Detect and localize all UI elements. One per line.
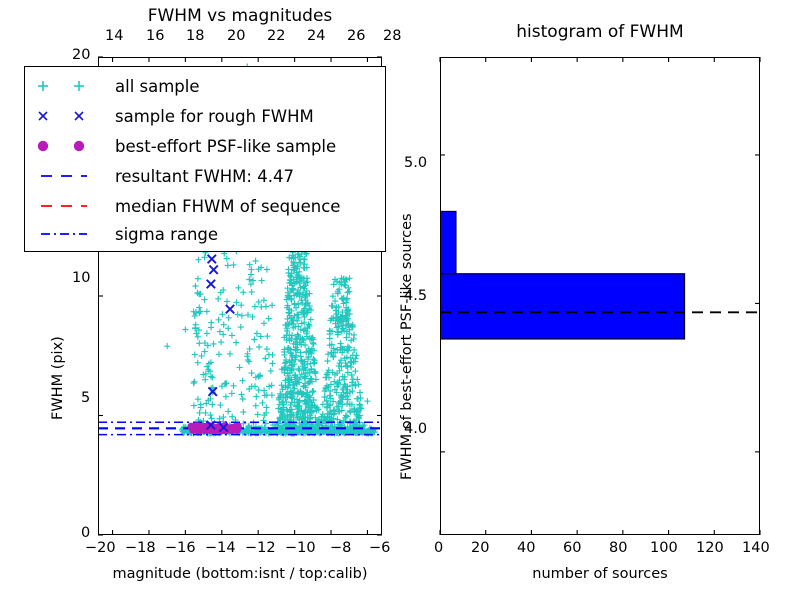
cross-icon	[31, 103, 109, 129]
right-panel-title: histogram of FWHM	[440, 22, 760, 42]
left-xbot-tick-7: −6	[369, 540, 390, 556]
legend-label-all-sample: all sample	[115, 77, 200, 96]
left-xaxis-label: magnitude (bottom:isnt / top:calib)	[98, 566, 382, 582]
left-xbot-tick-5: −10	[285, 540, 316, 556]
legend-entry-psf-sample: best-effort PSF-like sample	[31, 131, 336, 161]
dot-icon	[31, 133, 109, 159]
legend-label-median: median FHWM of sequence	[115, 197, 340, 216]
left-xtop-tick-5: 24	[307, 28, 325, 44]
left-xtop-tick-3: 20	[227, 28, 245, 44]
legend-box: all sample sample for rough FWHM best-ef…	[24, 66, 386, 252]
left-xbot-tick-3: −14	[205, 540, 236, 556]
legend-label-rough-sample: sample for rough FWHM	[115, 107, 314, 126]
legend-entry-sigma: sigma range	[31, 219, 218, 249]
right-xtick-80: 80	[609, 540, 627, 556]
dashed-line-icon-red	[31, 193, 109, 219]
legend-entry-all-sample: all sample	[31, 71, 200, 101]
legend-label-resultant: resultant FWHM: 4.47	[115, 167, 294, 186]
dashed-line-icon-blue	[31, 163, 109, 189]
legend-entry-median: median FHWM of sequence	[31, 191, 340, 221]
left-xtop-tick-4: 22	[267, 28, 285, 44]
left-xtop-tick-2: 18	[186, 28, 204, 44]
legend-label-psf-sample: best-effort PSF-like sample	[115, 137, 336, 156]
left-xtop-tick-7: 28	[383, 28, 401, 44]
right-xtick-100: 100	[650, 540, 678, 556]
right-xtick-0: 0	[434, 540, 443, 556]
left-ytick-10: 10	[72, 270, 90, 286]
right-xtick-60: 60	[563, 540, 581, 556]
right-xtick-140: 140	[742, 540, 770, 556]
left-ytick-0: 0	[81, 525, 90, 541]
left-xtop-tick-0: 14	[105, 28, 123, 44]
dashdot-line-icon	[31, 221, 109, 247]
left-xtop-tick-1: 16	[146, 28, 164, 44]
legend-entry-rough-sample: sample for rough FWHM	[31, 101, 314, 131]
left-ytick-20: 20	[72, 47, 90, 63]
right-xtick-40: 40	[517, 540, 535, 556]
left-xbot-tick-2: −16	[165, 540, 196, 556]
figure-canvas: FWHM vs magnitudes 14 16 18 20 22 24 26 …	[0, 0, 800, 600]
left-xbot-tick-4: −12	[245, 540, 276, 556]
legend-entry-resultant: resultant FWHM: 4.47	[31, 161, 294, 191]
left-ytick-5: 5	[81, 390, 90, 406]
right-xtick-20: 20	[471, 540, 489, 556]
left-panel-title: FWHM vs magnitudes	[98, 6, 382, 26]
right-xaxis-label: number of sources	[440, 566, 760, 582]
right-plot-area	[440, 57, 760, 535]
left-xbot-tick-6: −8	[330, 540, 351, 556]
right-yaxis-label: FWHM of best-effort PSF-like sources	[399, 213, 415, 480]
plus-icon	[31, 73, 109, 99]
right-ytick-5.0: 5.0	[404, 155, 427, 171]
right-xtick-120: 120	[696, 540, 724, 556]
left-yaxis-label: FWHM (pix)	[50, 336, 66, 420]
left-xbot-tick-0: −20	[85, 540, 116, 556]
legend-label-sigma: sigma range	[115, 225, 218, 244]
left-xbot-tick-1: −18	[125, 540, 156, 556]
left-xtop-tick-6: 26	[347, 28, 365, 44]
